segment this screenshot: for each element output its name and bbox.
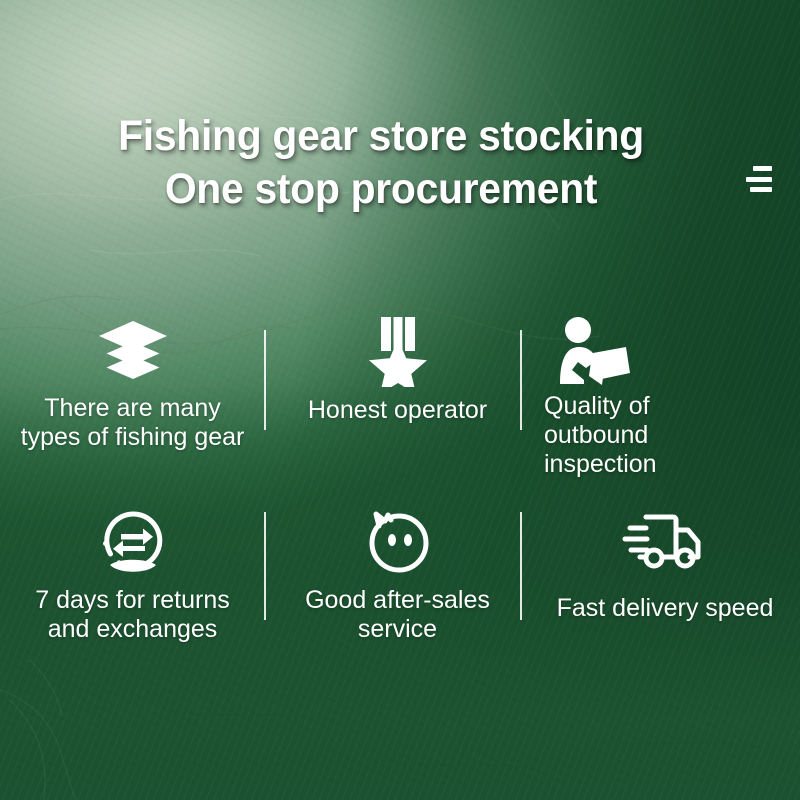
feature-label: Good after-sales service bbox=[305, 586, 490, 644]
menu-bar-top bbox=[753, 166, 772, 171]
feature-item-honest-operator: Honest operator bbox=[265, 300, 530, 490]
feature-item-returns: 7 days for returns and exchanges bbox=[0, 490, 265, 680]
smiley-face-icon bbox=[363, 502, 433, 580]
feature-label: 7 days for returns and exchanges bbox=[35, 586, 230, 644]
feature-label: There are many types of fishing gear bbox=[21, 394, 245, 452]
feature-grid: There are many types of fishing gear Hon… bbox=[0, 300, 800, 680]
layers-icon bbox=[97, 312, 169, 390]
exchange-return-icon bbox=[97, 502, 169, 580]
page-title: Fishing gear store stocking One stop pro… bbox=[20, 110, 780, 216]
menu-bar-bottom bbox=[750, 187, 772, 192]
feature-label: Honest operator bbox=[308, 396, 487, 425]
feature-label: Quality of outbound inspection bbox=[530, 392, 800, 479]
delivery-truck-icon bbox=[622, 502, 708, 580]
feature-label: Fast delivery speed bbox=[557, 594, 774, 623]
menu-bar-middle bbox=[746, 177, 772, 182]
hamburger-menu-icon[interactable] bbox=[742, 166, 772, 192]
medal-star-icon bbox=[368, 312, 428, 390]
feature-item-variety: There are many types of fishing gear bbox=[0, 300, 265, 490]
feature-item-after-sales: Good after-sales service bbox=[265, 490, 530, 680]
promo-banner: Fishing gear store stocking One stop pro… bbox=[0, 0, 800, 800]
inspector-clipboard-icon bbox=[530, 312, 800, 390]
feature-item-fast-delivery: Fast delivery speed bbox=[530, 490, 800, 680]
feature-item-outbound-inspection: Quality of outbound inspection bbox=[530, 300, 800, 490]
